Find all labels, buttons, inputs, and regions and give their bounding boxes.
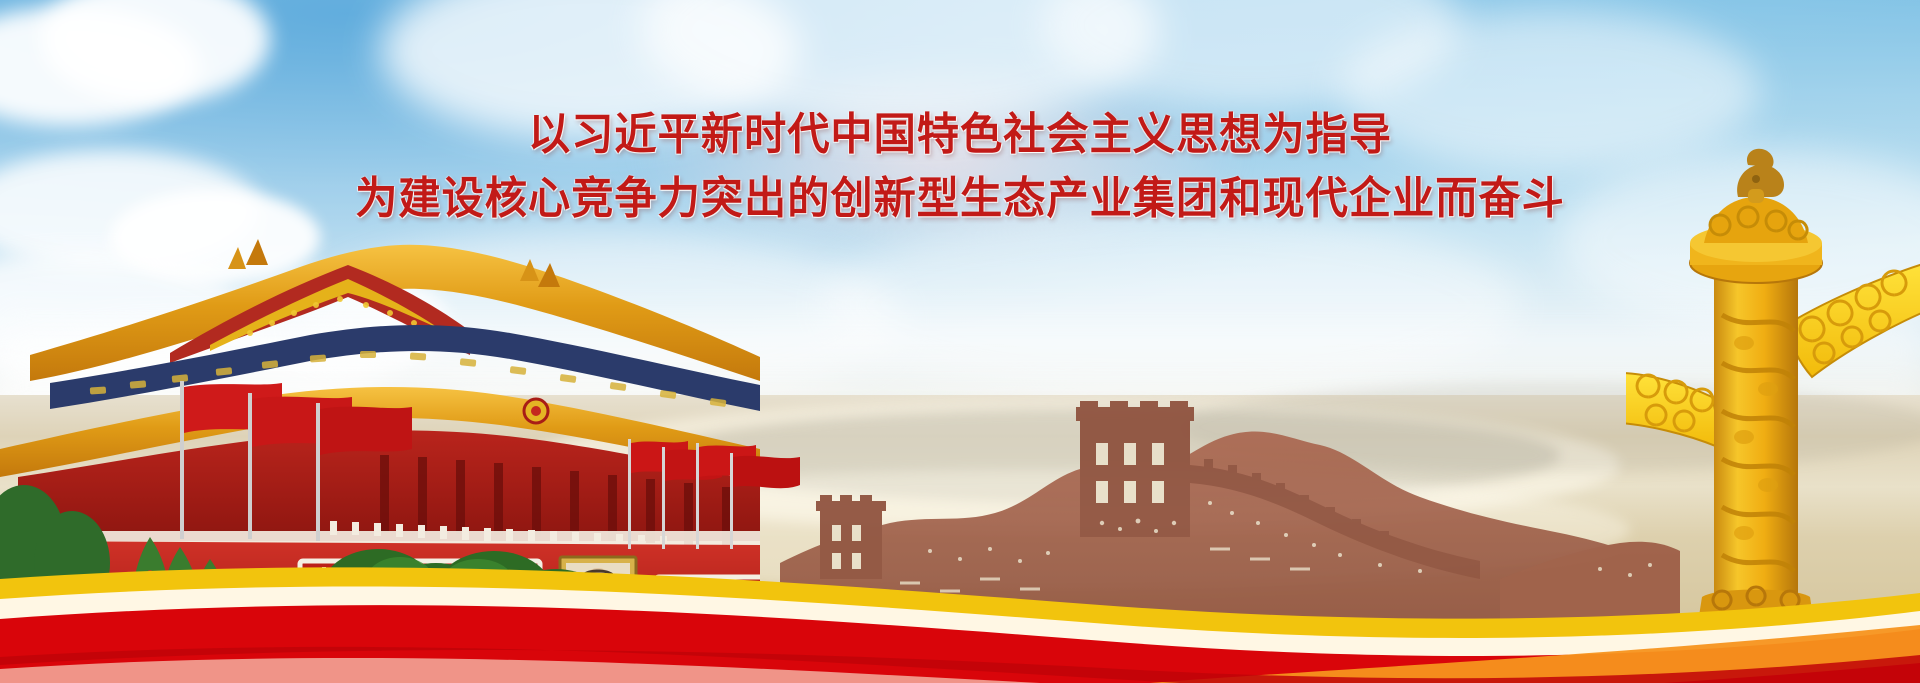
bottom-ribbon: [0, 533, 1920, 683]
propaganda-banner: 以习近平新时代中国特色社会主义思想为指导 为建设核心竞争力突出的创新型生态产业集…: [0, 0, 1920, 683]
